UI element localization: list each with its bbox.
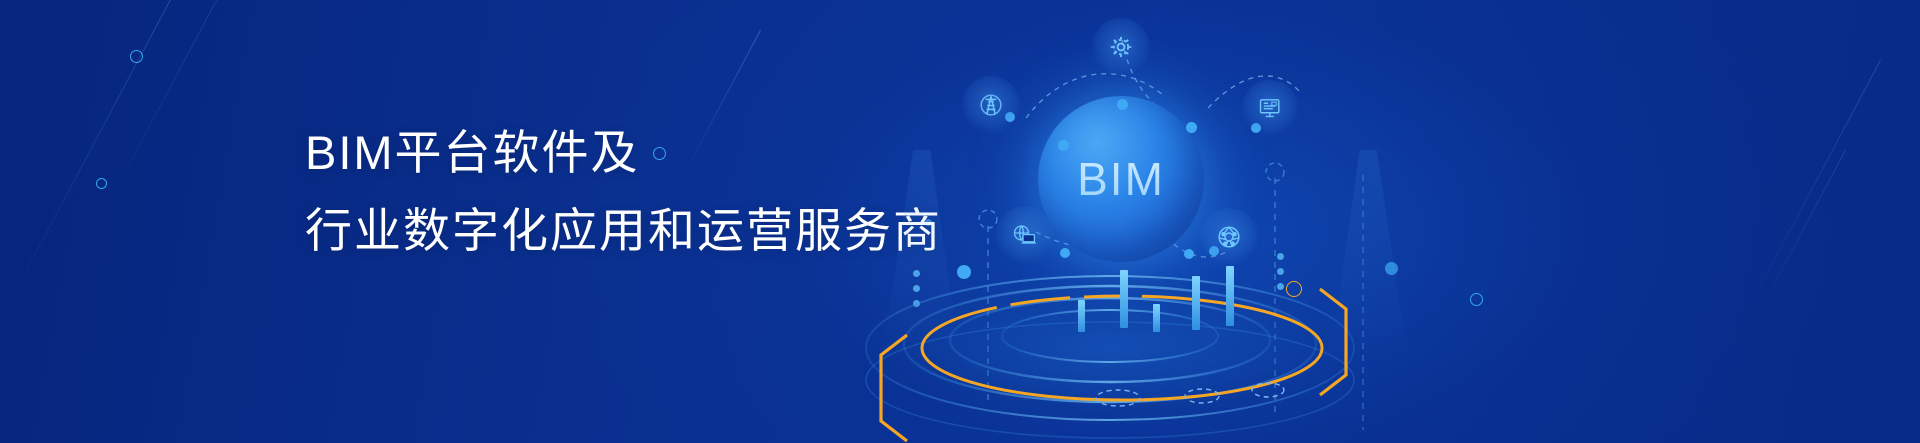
icon-bubble-power-tower[interactable] bbox=[962, 76, 1020, 134]
data-bar bbox=[1226, 266, 1234, 326]
node-circle bbox=[1470, 293, 1483, 306]
diagonal-line bbox=[110, 0, 233, 200]
node-circle bbox=[96, 178, 107, 189]
data-bar bbox=[1078, 300, 1085, 332]
diagonal-line bbox=[1758, 60, 1881, 290]
diagonal-line bbox=[20, 0, 176, 282]
connector-dot bbox=[1385, 262, 1398, 275]
icon-bubble-monitor[interactable] bbox=[1242, 80, 1298, 136]
bracket-left bbox=[875, 333, 909, 443]
connector-dot bbox=[1186, 122, 1197, 133]
diagonal-line bbox=[1760, 150, 1845, 309]
monitor-icon bbox=[1256, 95, 1284, 121]
bracket-right bbox=[1318, 287, 1352, 397]
bim-sphere-label: BIM bbox=[1038, 96, 1204, 262]
data-bar bbox=[1120, 270, 1128, 328]
radar-disc bbox=[860, 248, 1360, 443]
power-tower-icon bbox=[977, 91, 1005, 119]
network-node-icon bbox=[1215, 223, 1243, 251]
connector-dot bbox=[1117, 99, 1128, 110]
gear-icon bbox=[1108, 34, 1134, 60]
data-bar bbox=[1153, 304, 1160, 332]
node-circle bbox=[130, 50, 143, 63]
icon-bubble-gear[interactable] bbox=[1092, 18, 1150, 76]
globe-laptop-icon bbox=[1010, 222, 1040, 248]
connector-dot bbox=[1058, 140, 1069, 151]
data-bar bbox=[1192, 276, 1200, 330]
banner-hero: BIM平台软件及 行业数字化应用和运营服务商 BIM bbox=[0, 0, 1920, 443]
